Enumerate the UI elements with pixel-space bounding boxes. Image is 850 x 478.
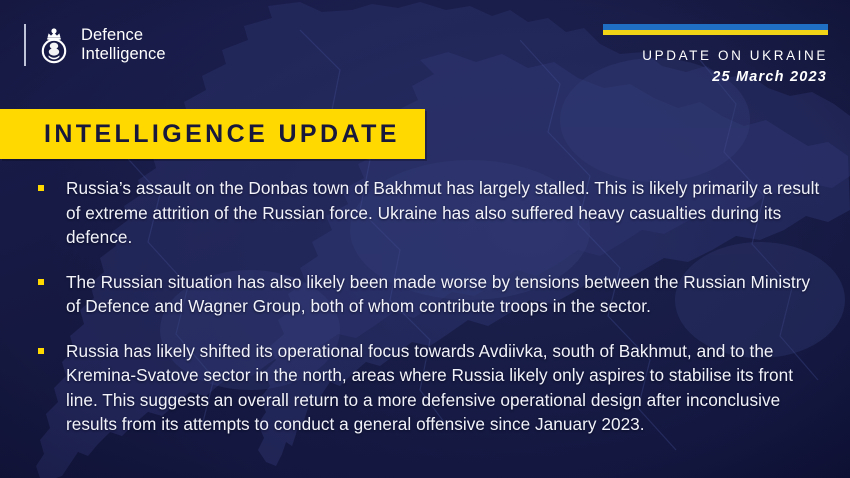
intelligence-update-banner: INTELLIGENCE UPDATE <box>0 109 425 159</box>
brand-line-2: Intelligence <box>81 45 166 64</box>
update-date: 25 March 2023 <box>712 69 827 85</box>
intelligence-update-poster: Defence Intelligence UPDATE ON UKRAINE 2… <box>0 0 850 478</box>
flag-yellow-stripe <box>603 30 828 35</box>
brand-line-1: Defence <box>81 26 166 45</box>
header: Defence Intelligence UPDATE ON UKRAINE 2… <box>0 0 850 105</box>
brand-name: Defence Intelligence <box>81 26 166 64</box>
defence-intelligence-branding: Defence Intelligence <box>24 22 166 68</box>
bullet-text: Russia’s assault on the Donbas town of B… <box>66 176 820 250</box>
ukraine-flag-bar-icon <box>603 24 828 35</box>
list-item: The Russian situation has also likely be… <box>38 270 820 319</box>
list-item: Russia has likely shifted its operationa… <box>38 339 820 437</box>
list-item: Russia’s assault on the Donbas town of B… <box>38 176 820 250</box>
bullet-marker-icon <box>38 348 44 354</box>
bullet-text: Russia has likely shifted its operationa… <box>66 339 820 437</box>
bullet-marker-icon <box>38 279 44 285</box>
update-on-ukraine-label: UPDATE ON UKRAINE <box>642 48 828 63</box>
bullet-text: The Russian situation has also likely be… <box>66 270 820 319</box>
brand-divider <box>24 24 26 66</box>
bullet-marker-icon <box>38 185 44 191</box>
banner-title: INTELLIGENCE UPDATE <box>0 120 400 149</box>
royal-crest-icon <box>37 25 71 65</box>
bullet-list: Russia’s assault on the Donbas town of B… <box>38 176 820 437</box>
